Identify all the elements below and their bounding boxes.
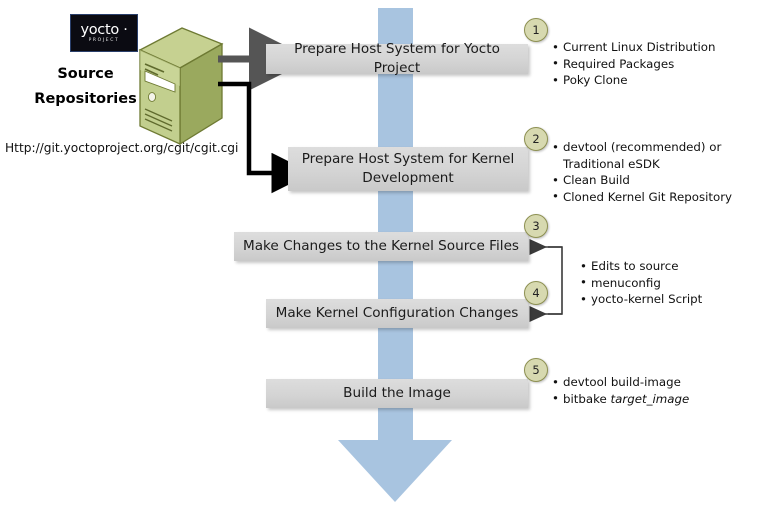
list-item: Required Packages xyxy=(552,56,757,73)
step-badge-4: 4 xyxy=(524,281,548,305)
step-badge-5: 5 xyxy=(524,358,548,382)
arrow-source-to-step2 xyxy=(218,84,276,173)
logo-subtext: PROJECT xyxy=(89,39,120,43)
server-tower-icon xyxy=(132,26,224,146)
bitbake-prefix: bitbake xyxy=(563,392,611,406)
list-item: yocto-kernel Script xyxy=(580,291,765,308)
workflow-spine-arrowhead xyxy=(338,440,452,502)
steps3-4-shared-bullets: Edits to source menuconfig yocto-kernel … xyxy=(580,258,765,308)
list-item: Cloned Kernel Git Repository xyxy=(552,189,757,206)
step-box-prepare-host-yocto[interactable]: Prepare Host System for Yocto Project xyxy=(266,44,528,74)
bracket-steps-3-4 xyxy=(548,247,562,314)
step-badge-2: 2 xyxy=(524,127,548,151)
logo-wordmark: yocto · xyxy=(80,23,127,38)
yocto-project-logo: yocto · PROJECT xyxy=(70,14,138,52)
step-box-build-the-image[interactable]: Build the Image xyxy=(266,379,528,408)
diagram-canvas: yocto · PROJECT Source Repositories Http… xyxy=(0,0,769,517)
step-box-make-kernel-config-changes[interactable]: Make Kernel Configuration Changes xyxy=(266,299,528,328)
list-item: bitbake target_image xyxy=(552,391,757,408)
step1-bullets: Current Linux Distribution Required Pack… xyxy=(552,39,757,89)
list-item: Clean Build xyxy=(552,172,757,189)
step2-bullets: devtool (recommended) or Traditional eSD… xyxy=(552,139,757,205)
list-item: menuconfig xyxy=(580,275,765,292)
step-box-make-kernel-source-changes[interactable]: Make Changes to the Kernel Source Files xyxy=(234,232,528,261)
list-item: Poky Clone xyxy=(552,72,757,89)
bitbake-target-image-arg: target_image xyxy=(611,392,690,406)
step-box-prepare-host-kernel[interactable]: Prepare Host System for Kernel Developme… xyxy=(288,147,528,191)
list-item: devtool (recommended) or Traditional eSD… xyxy=(552,139,723,172)
list-item: Edits to source xyxy=(580,258,765,275)
step-badge-3: 3 xyxy=(524,214,548,238)
list-item: devtool build-image xyxy=(552,374,757,391)
step-badge-1: 1 xyxy=(524,18,548,42)
list-item: Current Linux Distribution xyxy=(552,39,757,56)
step5-bullets: devtool build-image bitbake target_image xyxy=(552,374,757,407)
